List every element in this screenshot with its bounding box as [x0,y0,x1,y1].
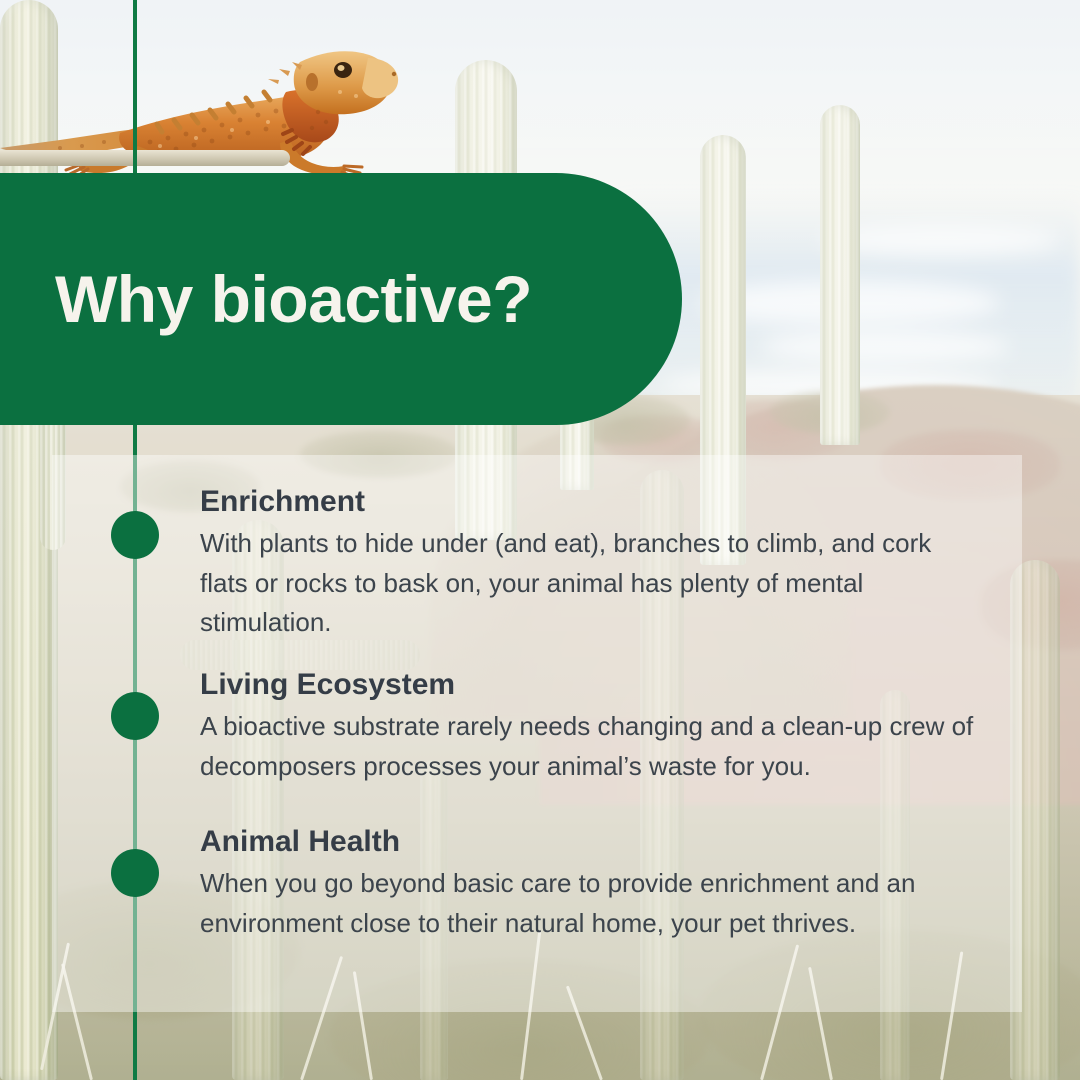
list-item-text: Enrichment With plants to hide under (an… [200,485,975,643]
header-banner: Why bioactive? [0,173,682,425]
list-item-title: Animal Health [200,825,975,858]
list-item-description: When you go beyond basic care to provide… [200,864,975,943]
list-item-title: Living Ecosystem [200,668,975,701]
list-item-text: Animal Health When you go beyond basic c… [200,825,975,943]
branch-perch [0,150,290,166]
list-item-description: With plants to hide under (and eat), bra… [200,524,975,643]
list-item-description: A bioactive substrate rarely needs chang… [200,707,975,786]
bearded-dragon-photo [0,0,420,180]
list-item-text: Living Ecosystem A bioactive substrate r… [200,668,975,786]
bullet-dot-icon [111,692,159,740]
bullet-dot-icon [111,849,159,897]
benefits-list: Enrichment With plants to hide under (an… [0,455,1080,1015]
page-title: Why bioactive? [55,266,532,332]
poster-canvas: Why bioactive? Enrichment With plants to… [0,0,1080,1080]
bullet-dot-icon [111,511,159,559]
list-item-title: Enrichment [200,485,975,518]
